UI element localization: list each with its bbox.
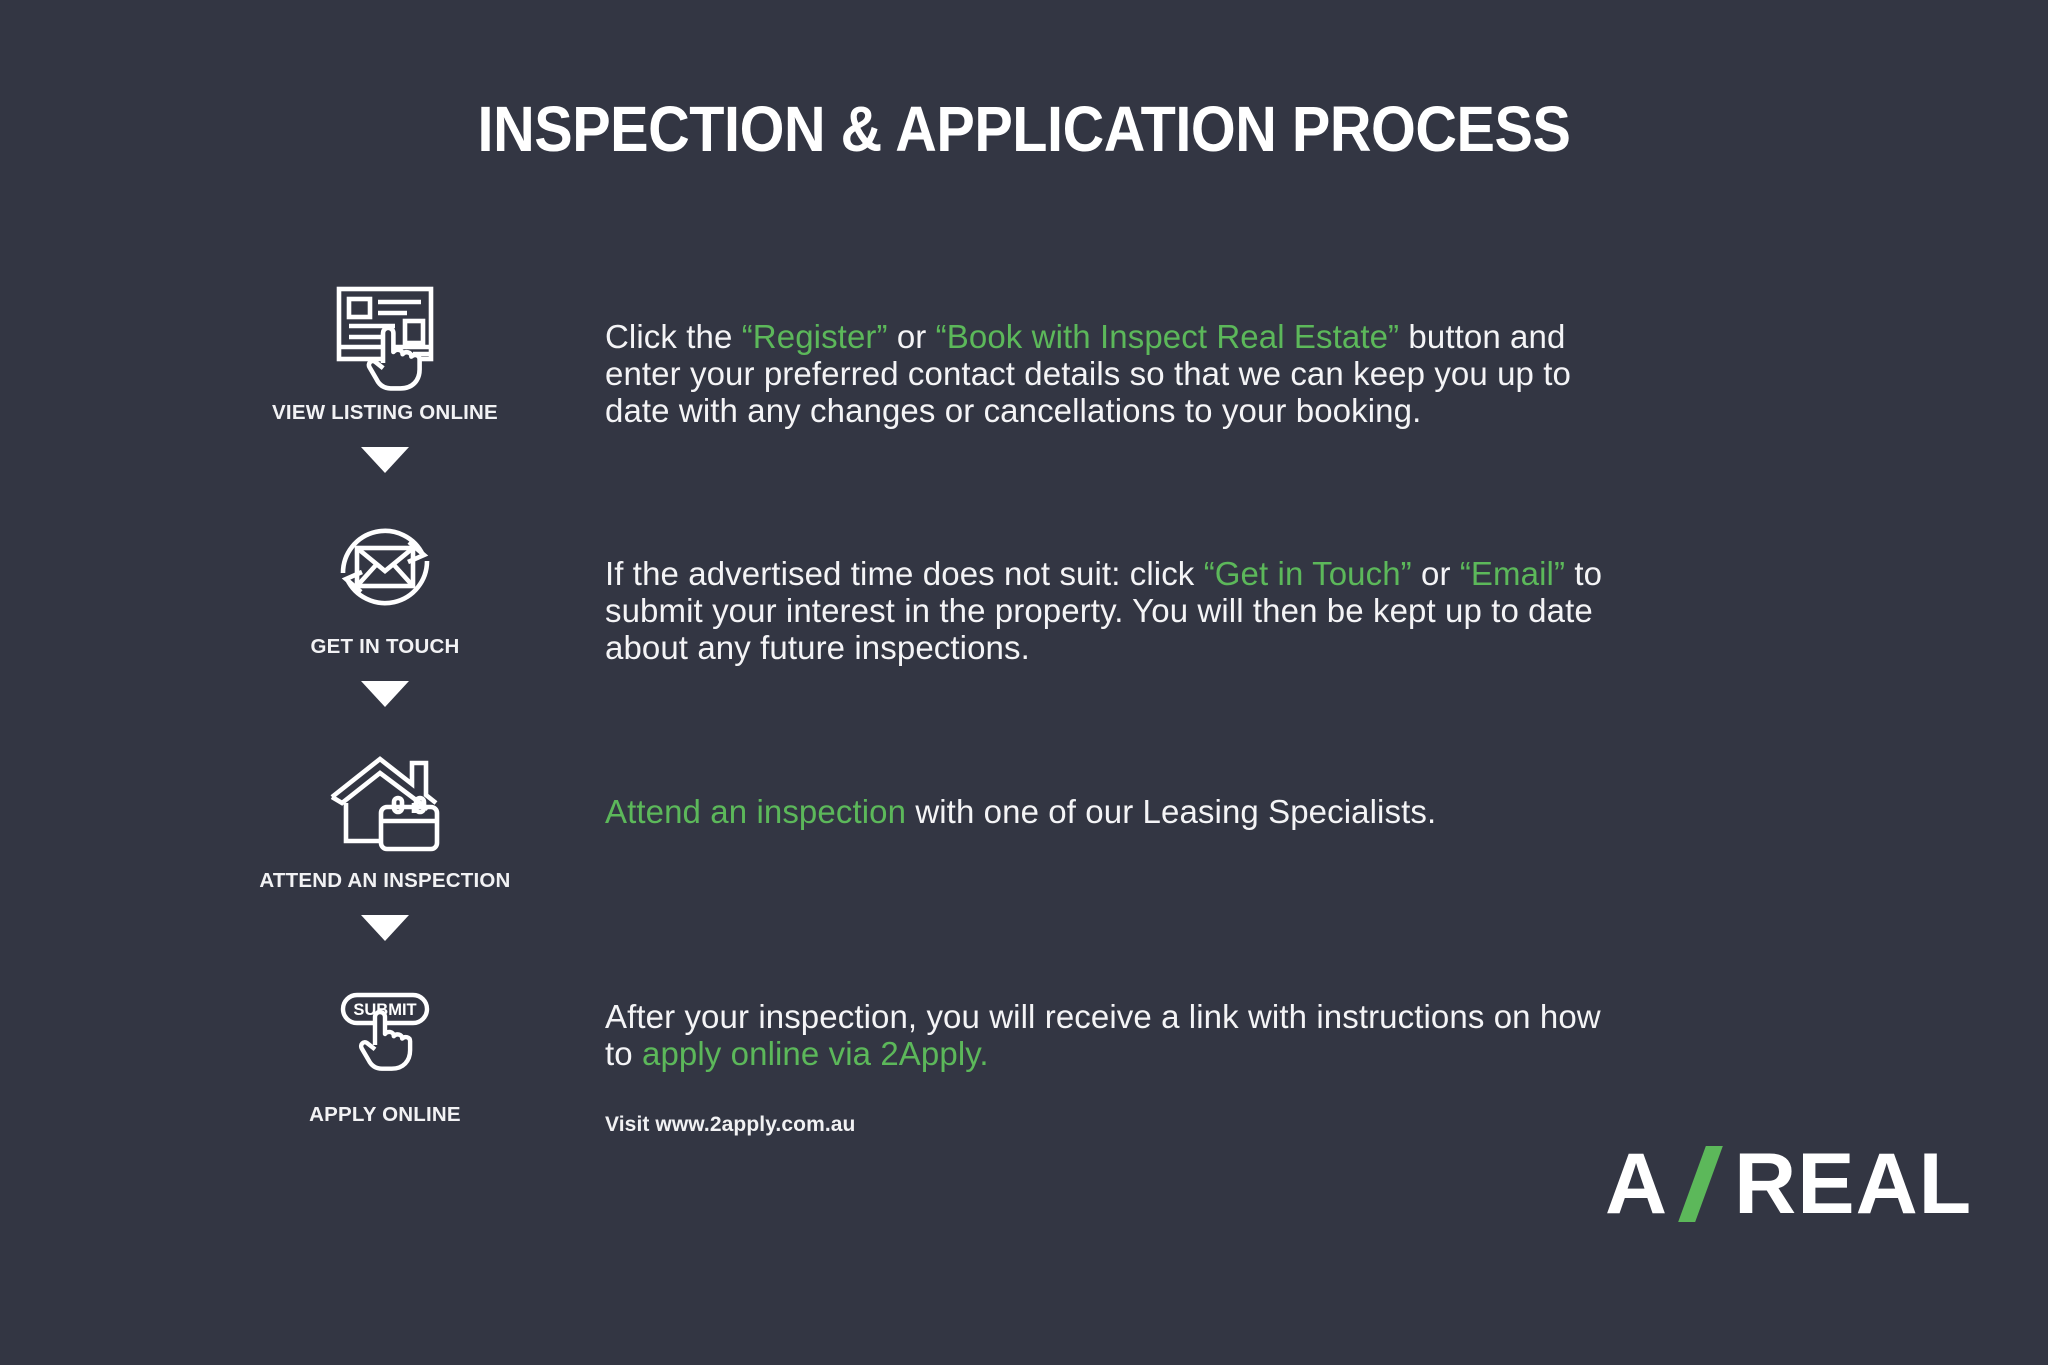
step-apply-online: SUBMIT APPLY ONLINE: [230, 987, 540, 1127]
step-label-attend-an-inspection: ATTEND AN INSPECTION: [230, 869, 540, 893]
page-title: INSPECTION & APPLICATION PROCESS: [102, 92, 1945, 166]
email-refresh-icon: [230, 519, 540, 619]
copy-step-1: Click the “Register” or “Book with Inspe…: [605, 318, 1615, 429]
flow-arrow-2: [230, 681, 540, 707]
submit-button-click-icon: SUBMIT: [230, 987, 540, 1087]
infographic-poster: INSPECTION & APPLICATION PROCESS: [0, 0, 2048, 1365]
copy-1-accent-register: “Register”: [742, 318, 888, 355]
copy-1-accent-book: “Book with Inspect Real Estate”: [936, 318, 1399, 355]
flow-spacer: [230, 893, 540, 915]
chevron-down-icon: [361, 447, 409, 473]
house-calendar-icon: [230, 753, 540, 853]
flow-spacer: [230, 473, 540, 519]
logo-letter-a: A: [1605, 1145, 1668, 1223]
logo-slash-icon: [1678, 1146, 1730, 1222]
copy-2-accent-get-in-touch: “Get in Touch”: [1204, 555, 1412, 592]
step-label-apply-online: APPLY ONLINE: [230, 1103, 540, 1127]
step-get-in-touch: GET IN TOUCH: [230, 519, 540, 659]
step-attend-an-inspection: ATTEND AN INSPECTION: [230, 753, 540, 893]
copy-2-part2: or: [1412, 555, 1460, 592]
chevron-down-icon: [361, 681, 409, 707]
view-listing-icon: [230, 285, 540, 385]
logo-wordmark: REAL: [1734, 1145, 1972, 1223]
copy-1-part2: or: [888, 318, 936, 355]
chevron-down-icon: [361, 915, 409, 941]
flow-arrow-1: [230, 447, 540, 473]
step-label-get-in-touch: GET IN TOUCH: [230, 635, 540, 659]
copy-step-2: If the advertised time does not suit: cl…: [605, 555, 1615, 666]
flow-spacer: [230, 941, 540, 987]
copy-step-4: After your inspection, you will receive …: [605, 998, 1615, 1072]
copy-3-accent-attend: Attend an inspection: [605, 793, 906, 830]
step-view-listing-online: VIEW LISTING ONLINE: [230, 285, 540, 425]
process-flow: VIEW LISTING ONLINE: [230, 285, 540, 1127]
copy-1-part1: Click the: [605, 318, 742, 355]
flow-spacer: [230, 659, 540, 681]
step-label-view-listing-online: VIEW LISTING ONLINE: [230, 401, 540, 425]
brand-logo: A REAL: [1605, 1145, 1972, 1223]
copy-step-3: Attend an inspection with one of our Lea…: [605, 793, 1615, 830]
copy-4-accent-2apply: apply online via 2Apply.: [642, 1035, 989, 1072]
flow-arrow-3: [230, 915, 540, 941]
copy-2-part1: If the advertised time does not suit: cl…: [605, 555, 1204, 592]
flow-spacer: [230, 425, 540, 447]
visit-url-line: Visit www.2apply.com.au: [605, 1113, 856, 1137]
flow-spacer: [230, 707, 540, 753]
copy-2-accent-email: “Email”: [1460, 555, 1565, 592]
copy-3-part1: with one of our Leasing Specialists.: [906, 793, 1436, 830]
